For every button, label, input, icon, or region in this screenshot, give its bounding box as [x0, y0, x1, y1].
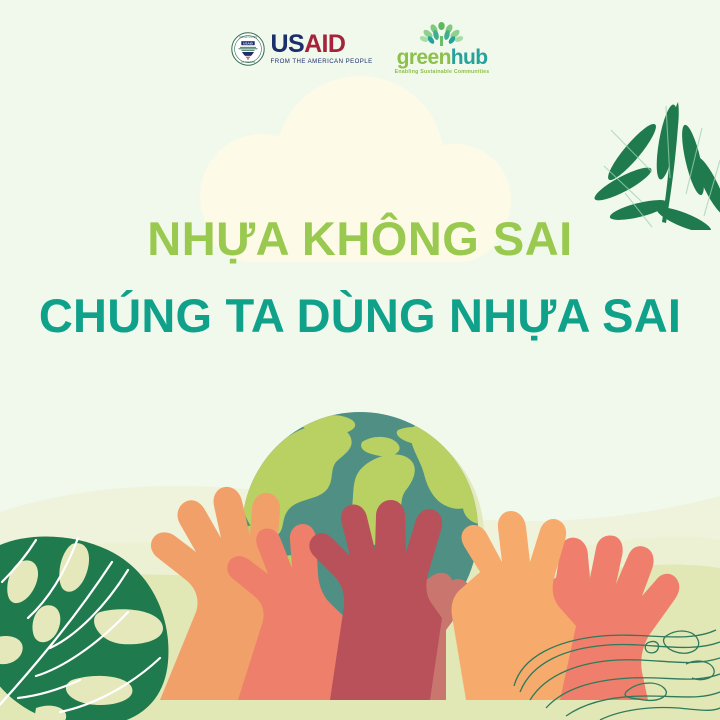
greenhub-wordmark: greenhub: [397, 47, 488, 68]
greenhub-green-text: green: [397, 46, 451, 69]
greenhub-logo: greenhub Enabling Sustainable Communitie…: [395, 22, 490, 75]
svg-text:UNITED STATES: UNITED STATES: [239, 36, 257, 39]
headline-block: NHỰA KHÔNG SAI CHÚNG TA DÙNG NHỰA SAI: [0, 214, 720, 342]
usaid-seal-icon: UNITED STATES OF AMERICA USAID: [231, 32, 265, 66]
greenhub-tagline: Enabling Sustainable Communities: [395, 70, 490, 75]
svg-text:USAID: USAID: [243, 41, 253, 45]
usaid-aid-text: AID: [304, 30, 345, 58]
topographic-lines: [510, 600, 720, 720]
logo-bar: UNITED STATES OF AMERICA USAID USAID FRO…: [0, 22, 720, 75]
headline-line-2: CHÚNG TA DÙNG NHỰA SAI: [0, 291, 720, 342]
greenhub-hub-text: hub: [451, 46, 488, 69]
palm-branch: [580, 80, 720, 230]
usaid-tagline: FROM THE AMERICAN PEOPLE: [271, 59, 373, 65]
monstera-leaf: [0, 520, 200, 720]
usaid-logo: UNITED STATES OF AMERICA USAID USAID FRO…: [231, 32, 373, 66]
usaid-title: USAID: [271, 32, 346, 57]
svg-text:OF AMERICA: OF AMERICA: [240, 61, 255, 64]
headline-line-1: NHỰA KHÔNG SAI: [0, 214, 720, 265]
tree-icon: [420, 22, 464, 46]
usaid-wordmark: USAID FROM THE AMERICAN PEOPLE: [271, 32, 373, 66]
usaid-us-text: US: [271, 30, 305, 58]
poster-canvas: UNITED STATES OF AMERICA USAID USAID FRO…: [0, 0, 720, 720]
